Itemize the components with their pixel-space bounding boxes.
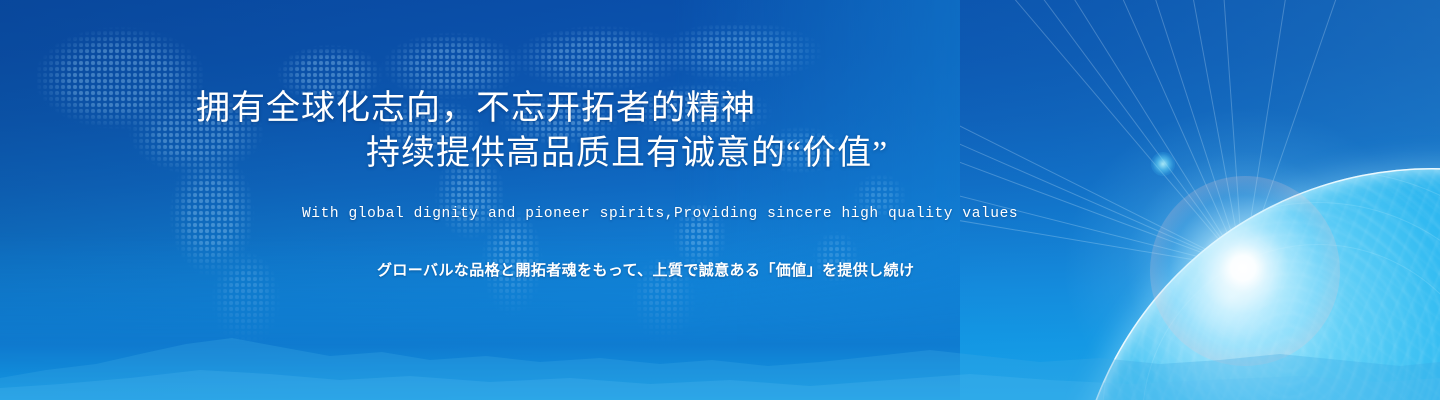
hero-banner: 拥有全球化志向，不忘开拓者的精神 持续提供高品质且有诚意的“价值” With g… (0, 0, 1440, 400)
subtitle-english: With global dignity and pioneer spirits,… (302, 206, 1018, 222)
page-title: 拥有全球化志向，不忘开拓者的精神 持续提供高品质且有诚意的“价值” (196, 86, 1016, 176)
headline-line-2: 持续提供高品质且有诚意的“价值” (196, 131, 1016, 176)
banner-content: 拥有全球化志向，不忘开拓者的精神 持续提供高品质且有诚意的“价值” With g… (0, 0, 1440, 400)
subtitle-japanese: グローバルな品格と開拓者魂をもって、上質で誠意ある「価値」を提供し続け (377, 259, 914, 280)
headline-line-1: 拥有全球化志向，不忘开拓者的精神 (196, 90, 756, 127)
